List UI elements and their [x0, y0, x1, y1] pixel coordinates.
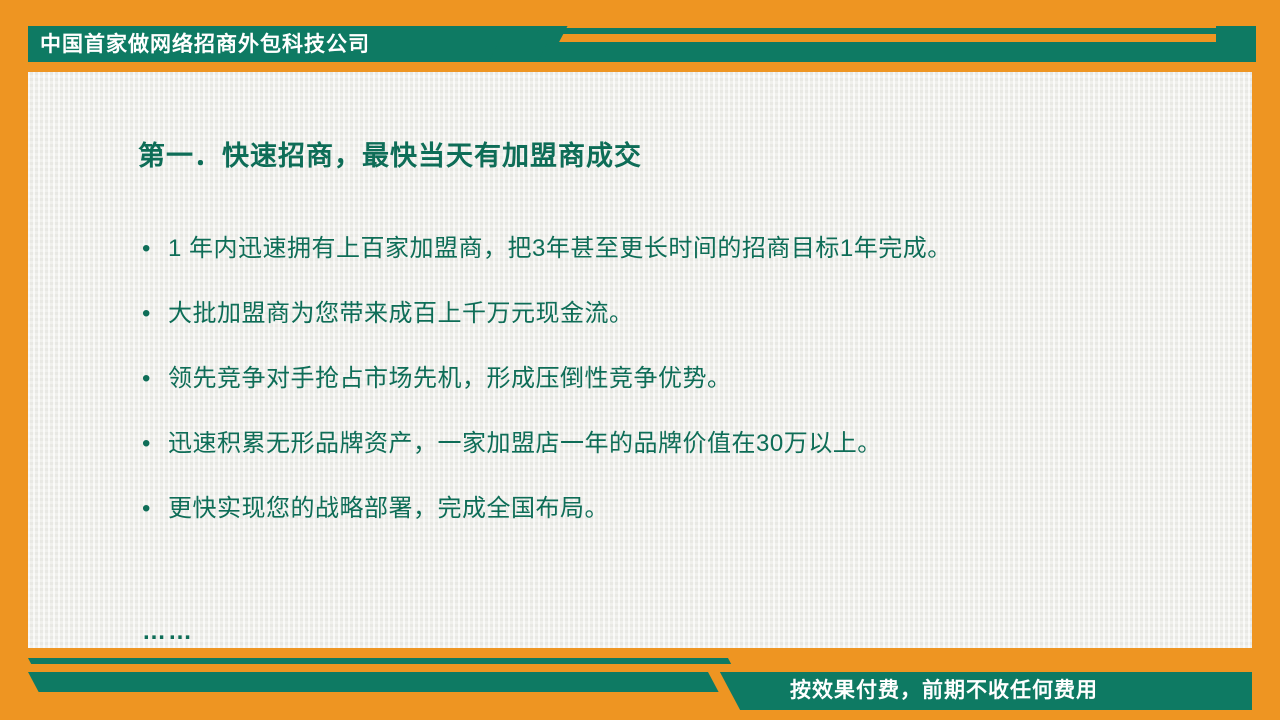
slide-footer-band: 按效果付费，前期不收任何费用: [0, 648, 1280, 720]
footer-thin-stripe: [28, 658, 731, 664]
header-thick-stripe: [537, 42, 1252, 62]
list-item-label: 大批加盟商为您带来成百上千万元现金流。: [168, 297, 1212, 331]
list-item-label: 1 年内迅速拥有上百家加盟商，把3年甚至更长时间的招商目标1年完成。: [168, 232, 1212, 266]
page-title: 第一．快速招商，最快当天有加盟商成交: [138, 134, 642, 173]
list-item-label: 更快实现您的战略部署，完成全国布局。: [168, 492, 1212, 526]
header-title: 中国首家做网络招商外包科技公司: [40, 30, 510, 60]
bullet-list: • 1 年内迅速拥有上百家加盟商，把3年甚至更长时间的招商目标1年完成。 • 大…: [142, 232, 1212, 557]
header-thin-stripe: [537, 28, 1252, 34]
bullet-dot-icon: •: [142, 427, 168, 461]
footer-thick-stripe: [28, 672, 719, 692]
list-item-label: 迅速积累无形品牌资产，一家加盟店一年的品牌价值在30万以上。: [168, 427, 1212, 461]
header-right-cap: [1216, 26, 1256, 62]
footer-note: 按效果付费，前期不收任何费用: [790, 677, 1240, 705]
list-item: • 更快实现您的战略部署，完成全国布局。: [142, 492, 1212, 526]
bullet-dot-icon: •: [142, 297, 168, 331]
list-item: • 领先竞争对手抢占市场先机，形成压倒性竞争优势。: [142, 362, 1212, 396]
list-item: • 1 年内迅速拥有上百家加盟商，把3年甚至更长时间的招商目标1年完成。: [142, 232, 1212, 266]
bullet-dot-icon: •: [142, 362, 168, 396]
bullet-dot-icon: •: [142, 492, 168, 526]
slide-header-band: 中国首家做网络招商外包科技公司: [0, 0, 1280, 72]
list-item: • 迅速积累无形品牌资产，一家加盟店一年的品牌价值在30万以上。: [142, 427, 1212, 461]
presentation-slide: 中国首家做网络招商外包科技公司 第一．快速招商，最快当天有加盟商成交 • 1 年…: [0, 0, 1280, 720]
list-item: • 大批加盟商为您带来成百上千万元现金流。: [142, 297, 1212, 331]
ellipsis-text: ……: [142, 618, 194, 646]
bullet-dot-icon: •: [142, 232, 168, 266]
list-item-label: 领先竞争对手抢占市场先机，形成压倒性竞争优势。: [168, 362, 1212, 396]
